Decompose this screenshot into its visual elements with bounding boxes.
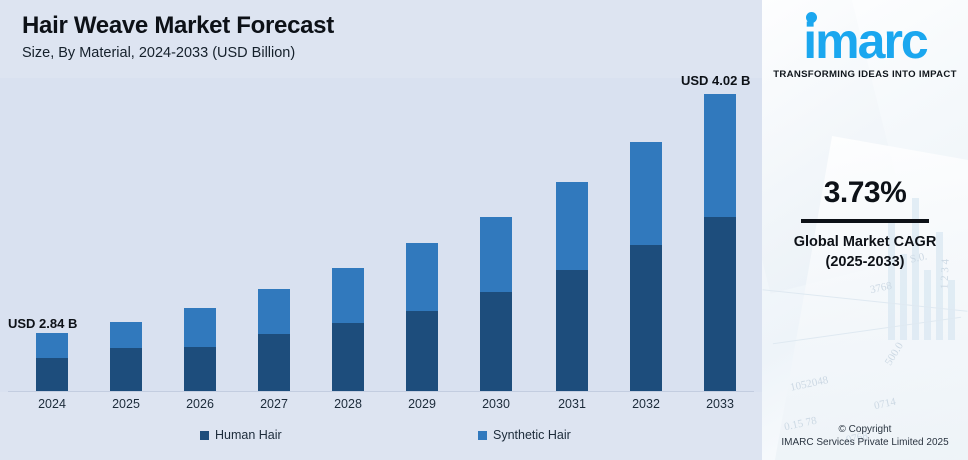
page-title: Hair Weave Market Forecast <box>22 12 334 40</box>
legend-item-human-hair[interactable]: Human Hair <box>200 428 282 442</box>
bar-2027[interactable] <box>258 289 290 392</box>
cagr-value: 3.73% <box>762 176 968 210</box>
cagr-label-primary: Global Market CAGR <box>762 234 968 250</box>
infographic-root: Hair Weave Market Forecast Size, By Mate… <box>0 0 968 460</box>
bar-segment-synthetic-hair-2028 <box>332 268 364 323</box>
bar-2028[interactable] <box>332 268 364 392</box>
bar-segment-synthetic-hair-2031 <box>556 182 588 270</box>
x-axis-tick-2024: 2024 <box>22 397 82 411</box>
chart-panel: Hair Weave Market Forecast Size, By Mate… <box>0 0 762 460</box>
cagr-label-period: (2025-2033) <box>762 254 968 270</box>
bar-segment-human-hair-2028 <box>332 323 364 392</box>
bar-segment-synthetic-hair-2033 <box>704 94 736 217</box>
legend-label-human-hair: Human Hair <box>215 428 282 442</box>
x-axis-tick-2029: 2029 <box>392 397 452 411</box>
bar-segment-synthetic-hair-2029 <box>406 243 438 311</box>
x-axis-tick-2028: 2028 <box>318 397 378 411</box>
chart-legend: Human Hair Synthetic Hair <box>0 428 762 452</box>
bar-segment-synthetic-hair-2025 <box>110 322 142 348</box>
x-axis-tick-2031: 2031 <box>542 397 602 411</box>
bar-segment-synthetic-hair-2026 <box>184 308 216 347</box>
bar-segment-human-hair-2033 <box>704 217 736 392</box>
bar-segment-human-hair-2026 <box>184 347 216 392</box>
x-axis-tick-2026: 2026 <box>170 397 230 411</box>
x-axis: 2024202520262027202820292030203120322033 <box>0 392 762 422</box>
bar-2030[interactable] <box>480 217 512 392</box>
bar-segment-synthetic-hair-2032 <box>630 142 662 245</box>
copyright-block: © Copyright IMARC Services Private Limit… <box>762 424 968 448</box>
x-axis-tick-2032: 2032 <box>616 397 676 411</box>
bar-segment-human-hair-2030 <box>480 292 512 392</box>
imarc-wordmark: imarc <box>803 13 926 69</box>
legend-item-synthetic-hair[interactable]: Synthetic Hair <box>478 428 571 442</box>
x-axis-tick-2033: 2033 <box>690 397 750 411</box>
page-subtitle: Size, By Material, 2024-2033 (USD Billio… <box>22 45 295 61</box>
copyright-line-2: IMARC Services Private Limited 2025 <box>762 437 968 448</box>
bar-2026[interactable] <box>184 308 216 392</box>
first-bar-value-label: USD 2.84 B <box>8 316 77 331</box>
legend-label-synthetic-hair: Synthetic Hair <box>493 428 571 442</box>
bar-segment-synthetic-hair-2027 <box>258 289 290 334</box>
imarc-logo-text: imarc <box>803 16 926 66</box>
cagr-divider <box>801 219 929 223</box>
bar-2029[interactable] <box>406 243 438 392</box>
copyright-line-1: © Copyright <box>762 424 968 435</box>
cagr-block: 3.73% Global Market CAGR (2025-2033) <box>762 176 968 270</box>
last-bar-value-label: USD 4.02 B <box>681 73 750 88</box>
bar-segment-human-hair-2024 <box>36 358 68 392</box>
legend-swatch-human-hair <box>200 431 209 440</box>
x-axis-tick-2027: 2027 <box>244 397 304 411</box>
bar-segment-human-hair-2025 <box>110 348 142 392</box>
bar-2025[interactable] <box>110 322 142 392</box>
bars-layer <box>0 78 762 392</box>
brand-tagline: TRANSFORMING IDEAS INTO IMPACT <box>762 69 968 80</box>
brand-logo: imarc TRANSFORMING IDEAS INTO IMPACT <box>762 16 968 80</box>
brand-panel: S.0. 3768 500.0 1052048 0.15 78 0768 1 2… <box>762 0 968 460</box>
plot-area: USD 2.84 B USD 4.02 B <box>0 78 762 392</box>
bar-segment-human-hair-2029 <box>406 311 438 392</box>
bar-2024[interactable] <box>36 333 68 392</box>
bar-segment-synthetic-hair-2030 <box>480 217 512 292</box>
legend-swatch-synthetic-hair <box>478 431 487 440</box>
x-axis-tick-2030: 2030 <box>466 397 526 411</box>
bar-segment-human-hair-2032 <box>630 245 662 392</box>
x-axis-tick-2025: 2025 <box>96 397 156 411</box>
bar-2033[interactable] <box>704 94 736 392</box>
bar-2031[interactable] <box>556 182 588 392</box>
bar-segment-synthetic-hair-2024 <box>36 333 68 358</box>
bar-segment-human-hair-2027 <box>258 334 290 392</box>
bar-2032[interactable] <box>630 142 662 392</box>
bar-segment-human-hair-2031 <box>556 270 588 392</box>
